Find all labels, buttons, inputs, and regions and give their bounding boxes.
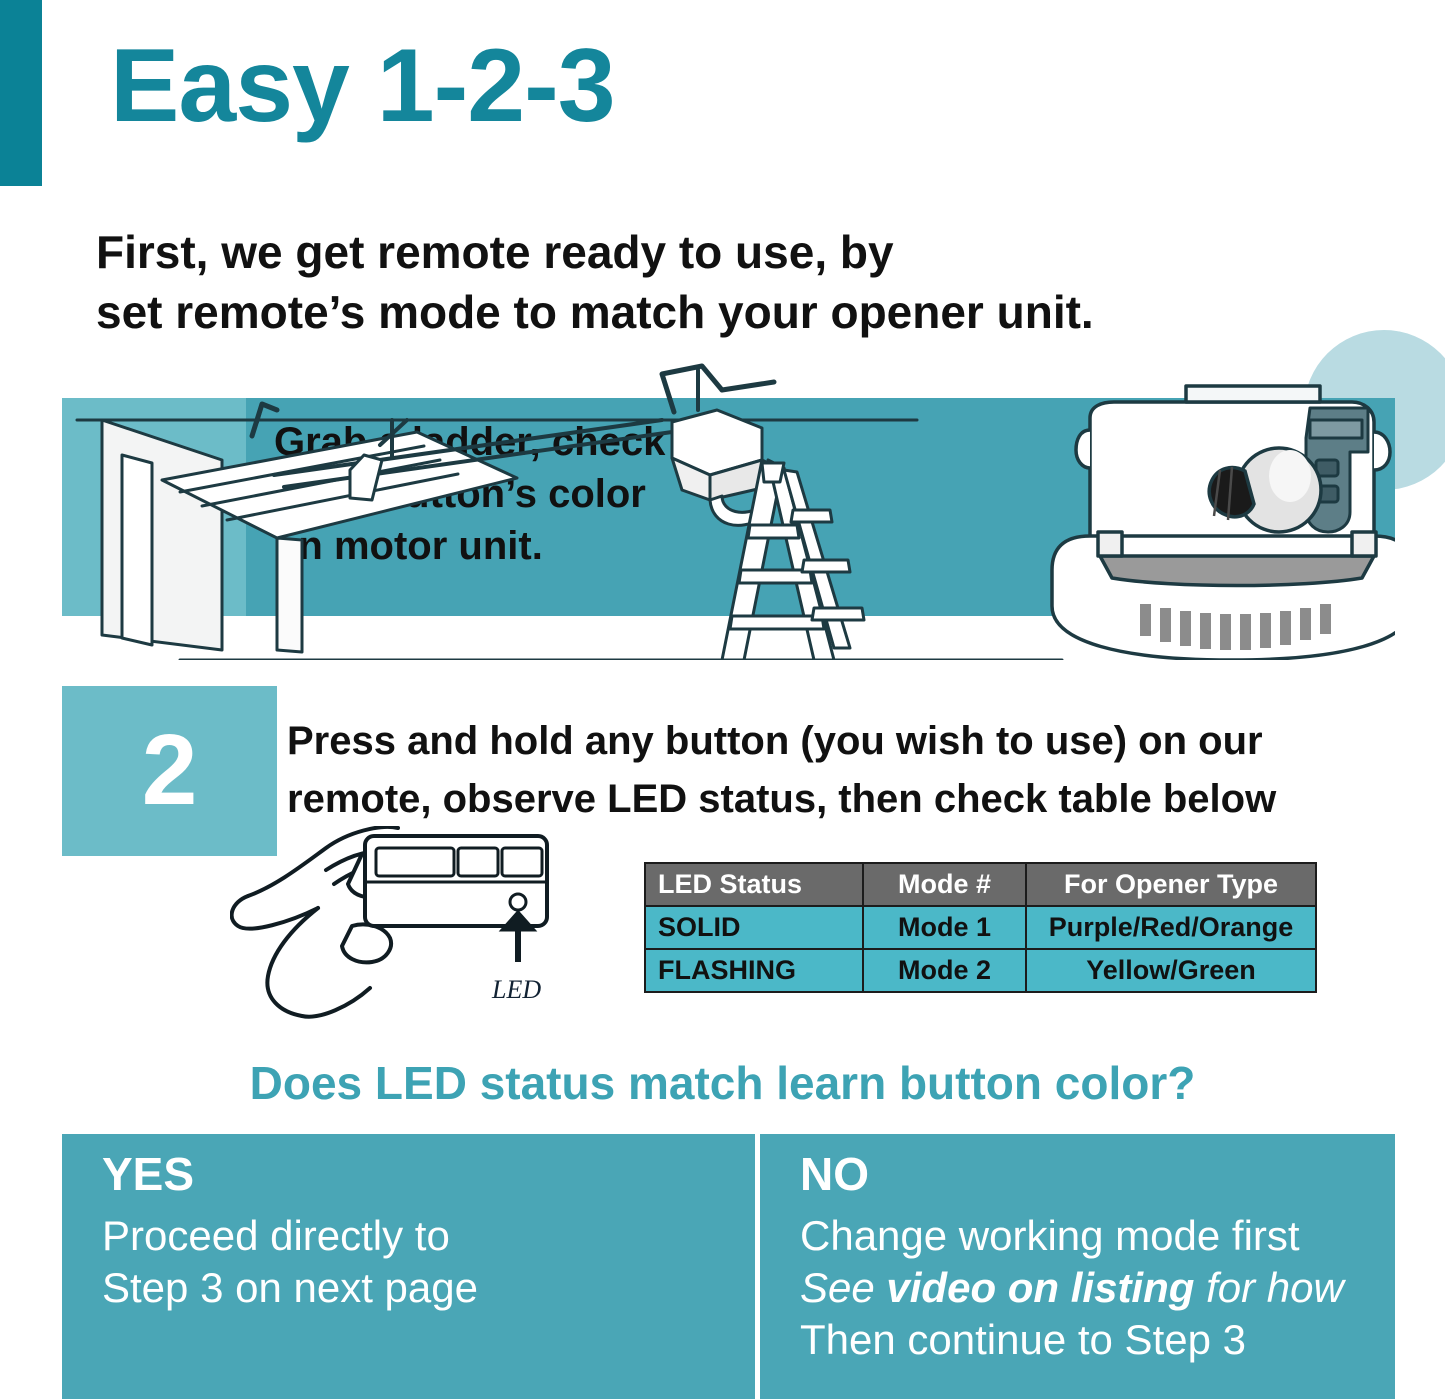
hand-holding-remote-illustration [230, 826, 640, 1026]
cell-opener-type-2: Yellow/Green [1026, 949, 1316, 992]
cell-mode-2: Mode 2 [863, 949, 1026, 992]
table-header-mode: Mode # [863, 863, 1026, 906]
led-status-table: LED Status Mode # For Opener Type SOLID … [644, 862, 1317, 993]
step-1-number-column: 1 [62, 398, 246, 616]
answer-yes-line-2: Step 3 on next page [102, 1262, 478, 1314]
answer-box-no: NO Change working mode first See video o… [760, 1134, 1395, 1399]
header-accent-bar [0, 0, 42, 186]
cell-led-status-solid: SOLID [645, 906, 863, 949]
step-1-line-3: on motor unit. [274, 520, 744, 572]
page-title: Easy 1-2-3 [110, 34, 615, 138]
cell-opener-type-1: Purple/Red/Orange [1026, 906, 1316, 949]
intro-text: First, we get remote ready to use, by se… [96, 222, 1386, 342]
answer-no-line-2-post: for how [1194, 1264, 1343, 1311]
step-2-number: 2 [62, 720, 277, 820]
step-2-text: Press and hold any button (you wish to u… [287, 712, 1387, 828]
answer-yes-line-1: Proceed directly to [102, 1210, 478, 1262]
cell-mode-1: Mode 1 [863, 906, 1026, 949]
answer-no-line-3: Then continue to Step 3 [800, 1314, 1344, 1366]
answer-yes-body: Proceed directly to Step 3 on next page [102, 1210, 478, 1314]
answer-no-body: Change working mode first See video on l… [800, 1210, 1344, 1366]
step-1-panel: 1 Grab a ladder, check learn button’s co… [62, 398, 1395, 616]
step-1-line-1: Grab a ladder, check [274, 416, 744, 468]
table-header-opener-type: For Opener Type [1026, 863, 1316, 906]
step-1-number: 1 [62, 450, 246, 550]
step-2-line-1: Press and hold any button (you wish to u… [287, 712, 1387, 770]
intro-line-1: First, we get remote ready to use, by [96, 222, 1386, 282]
table-row: SOLID Mode 1 Purple/Red/Orange [645, 906, 1316, 949]
table-header-row: LED Status Mode # For Opener Type [645, 863, 1316, 906]
answer-no-title: NO [800, 1148, 869, 1200]
answer-no-line-1: Change working mode first [800, 1210, 1344, 1262]
infographic-page: Easy 1-2-3 First, we get remote ready to… [0, 0, 1445, 1399]
step-2-line-2: remote, observe LED status, then check t… [287, 770, 1387, 828]
intro-line-2: set remote’s mode to match your opener u… [96, 282, 1386, 342]
step-1-text: Grab a ladder, check learn button’s colo… [274, 416, 744, 572]
cell-led-status-flashing: FLASHING [645, 949, 863, 992]
answer-no-line-2: See video on listing for how [800, 1262, 1344, 1314]
table-row: FLASHING Mode 2 Yellow/Green [645, 949, 1316, 992]
led-callout-label: LED [492, 975, 541, 1005]
answer-box-yes: YES Proceed directly to Step 3 on next p… [62, 1134, 755, 1399]
answer-no-line-2-emphasis: video on listing [886, 1264, 1194, 1311]
step-1-line-2: learn button’s color [274, 468, 744, 520]
answer-yes-title: YES [102, 1148, 194, 1200]
table-header-led-status: LED Status [645, 863, 863, 906]
decision-question: Does LED status match learn button color… [0, 1056, 1445, 1110]
answer-no-line-2-pre: See [800, 1264, 886, 1311]
